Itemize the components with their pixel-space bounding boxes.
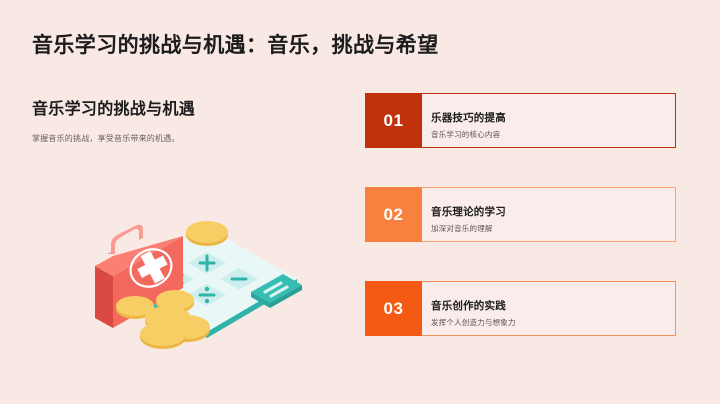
card-body: 乐器技巧的提高 音乐学习的核心内容 xyxy=(422,93,676,148)
list-item[interactable]: 02 音乐理论的学习 加深对音乐的理解 xyxy=(365,187,676,242)
card-body: 音乐创作的实践 发挥个人创造力与想象力 xyxy=(422,281,676,336)
card-title: 音乐理论的学习 xyxy=(431,206,675,219)
card-number-badge: 03 xyxy=(365,281,422,336)
numbered-cards-list: 01 乐器技巧的提高 音乐学习的核心内容 02 音乐理论的学习 加深对音乐的理解… xyxy=(365,93,676,336)
list-item[interactable]: 01 乐器技巧的提高 音乐学习的核心内容 xyxy=(365,93,676,148)
card-description: 加深对音乐的理解 xyxy=(431,224,675,234)
left-content-column: 音乐学习的挑战与机遇 掌握音乐的挑战，享受音乐带来的机遇。 xyxy=(32,95,332,145)
card-description: 音乐学习的核心内容 xyxy=(431,130,675,140)
card-number-badge: 01 xyxy=(365,93,422,148)
card-title: 乐器技巧的提高 xyxy=(431,112,675,125)
card-body: 音乐理论的学习 加深对音乐的理解 xyxy=(422,187,676,242)
section-subtext: 掌握音乐的挑战，享受音乐带来的机遇。 xyxy=(32,133,332,145)
first-aid-kit-calculator-coins-illustration xyxy=(55,208,355,383)
card-number-badge: 02 xyxy=(365,187,422,242)
list-item[interactable]: 03 音乐创作的实践 发挥个人创造力与想象力 xyxy=(365,281,676,336)
slide-canvas: 音乐学习的挑战与机遇：音乐，挑战与希望 音乐学习的挑战与机遇 掌握音乐的挑战，享… xyxy=(0,0,720,404)
card-title: 音乐创作的实践 xyxy=(431,300,675,313)
section-heading: 音乐学习的挑战与机遇 xyxy=(32,95,332,119)
card-description: 发挥个人创造力与想象力 xyxy=(431,318,675,328)
slide-title: 音乐学习的挑战与机遇：音乐，挑战与希望 xyxy=(32,29,439,59)
